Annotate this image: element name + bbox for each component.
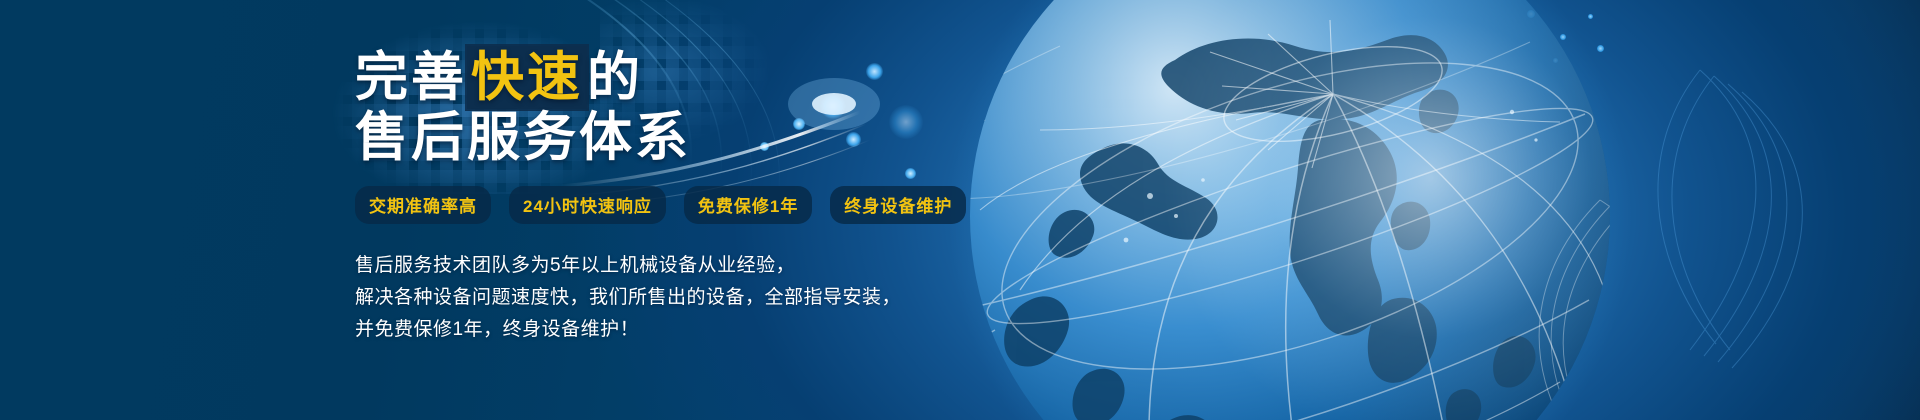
feature-badge[interactable]: 交期准确率高 <box>355 186 491 224</box>
dot-matrix-pattern-3 <box>1090 20 1230 260</box>
feature-badge[interactable]: 终身设备维护 <box>830 186 966 224</box>
headline-suffix: 的 <box>587 48 643 107</box>
headline-line-2: 售后服务体系 <box>355 108 1075 168</box>
bokeh-dot <box>1560 34 1566 40</box>
globe-polar-circle <box>1215 28 1452 160</box>
bokeh-dot <box>1553 58 1558 63</box>
feature-badge[interactable]: 24小时快速响应 <box>509 186 666 224</box>
feature-badge-list: 交期准确率高 24小时快速响应 免费保修1年 终身设备维护 <box>355 186 1075 224</box>
banner-content: 完善快速的 售后服务体系 交期准确率高 24小时快速响应 免费保修1年 终身设备… <box>355 48 1075 346</box>
service-banner: 完善快速的 售后服务体系 交期准确率高 24小时快速响应 免费保修1年 终身设备… <box>0 0 1920 420</box>
bokeh-dot <box>1527 10 1535 18</box>
headline: 完善快速的 售后服务体系 <box>355 48 1075 168</box>
globe-sparkles <box>1124 110 1538 243</box>
globe-pole-spokes <box>1210 20 1333 168</box>
bokeh-dot <box>1597 45 1604 52</box>
globe-continents <box>1004 35 1535 420</box>
outer-swirl-ribbon <box>1658 70 1802 368</box>
headline-line-1: 完善快速的 <box>355 48 1075 108</box>
description-paragraph: 售后服务技术团队多为5年以上机械设备从业经验， 解决各种设备问题速度快，我们所售… <box>355 250 1075 346</box>
description-line: 并免费保修1年，终身设备维护！ <box>355 314 1075 346</box>
headline-prefix: 完善 <box>355 48 467 107</box>
description-line: 售后服务技术团队多为5年以上机械设备从业经验， <box>355 250 1075 282</box>
headline-highlight: 快速 <box>467 46 587 109</box>
feature-badge[interactable]: 免费保修1年 <box>684 186 812 224</box>
description-line: 解决各种设备问题速度快，我们所售出的设备，全部指导安装， <box>355 282 1075 314</box>
globe-wireframe-ribbon <box>1539 200 1698 420</box>
bokeh-dot <box>1588 14 1593 19</box>
